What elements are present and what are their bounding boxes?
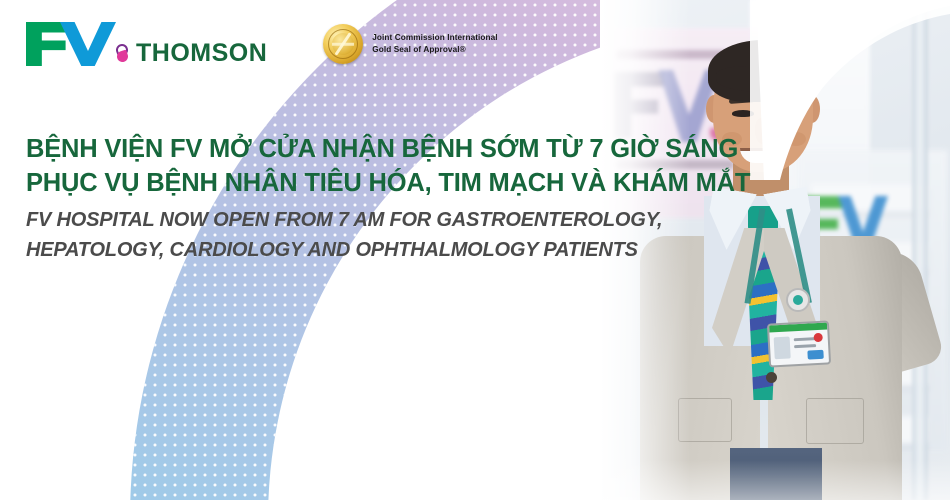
fv-logo-icon bbox=[26, 22, 118, 66]
banner-content: THOMSON Joint Commission International G… bbox=[0, 0, 620, 500]
fv-letter-v-icon bbox=[60, 22, 116, 66]
promotional-banner: THOMSON Joint Commission International G… bbox=[0, 0, 950, 500]
jci-accreditation: Joint Commission International Gold Seal… bbox=[323, 24, 497, 64]
photo-corner-mask bbox=[750, 0, 950, 180]
headline-vietnamese: BỆNH VIỆN FV MỞ CỬA NHẬN BỆNH SỚM TỪ 7 G… bbox=[26, 132, 586, 200]
thomson-wordmark: THOMSON bbox=[136, 41, 267, 66]
person-jacket-button bbox=[766, 372, 777, 383]
jci-line-1: Joint Commission International bbox=[372, 32, 497, 44]
headline-line-2: PHỤC VỤ BỆNH NHÂN TIÊU HÓA, TIM MẠCH VÀ … bbox=[26, 166, 586, 200]
subheadline-line-2: HEPATOLOGY, CARDIOLOGY AND OPHTHALMOLOGY… bbox=[26, 235, 586, 265]
person-pocket-right bbox=[806, 398, 864, 444]
photo-bottom-fade bbox=[600, 460, 950, 500]
hero-photo bbox=[600, 0, 950, 500]
jci-line-2: Gold Seal of Approval® bbox=[372, 44, 497, 56]
subheadline-english: FV HOSPITAL NOW OPEN FROM 7 AM FOR GASTR… bbox=[26, 205, 586, 265]
fv-thomson-logo[interactable]: THOMSON bbox=[26, 22, 267, 66]
person-id-badge bbox=[767, 320, 831, 367]
subheadline-line-1: FV HOSPITAL NOW OPEN FROM 7 AM FOR GASTR… bbox=[26, 205, 586, 235]
fv-swoosh-icon bbox=[114, 42, 132, 64]
logo-row: THOMSON Joint Commission International G… bbox=[26, 22, 498, 66]
person-badge-reel bbox=[786, 288, 810, 312]
headline-line-1: BỆNH VIỆN FV MỞ CỬA NHẬN BỆNH SỚM TỪ 7 G… bbox=[26, 132, 586, 166]
jci-gold-seal-icon bbox=[323, 24, 363, 64]
jci-accreditation-text: Joint Commission International Gold Seal… bbox=[372, 32, 497, 55]
